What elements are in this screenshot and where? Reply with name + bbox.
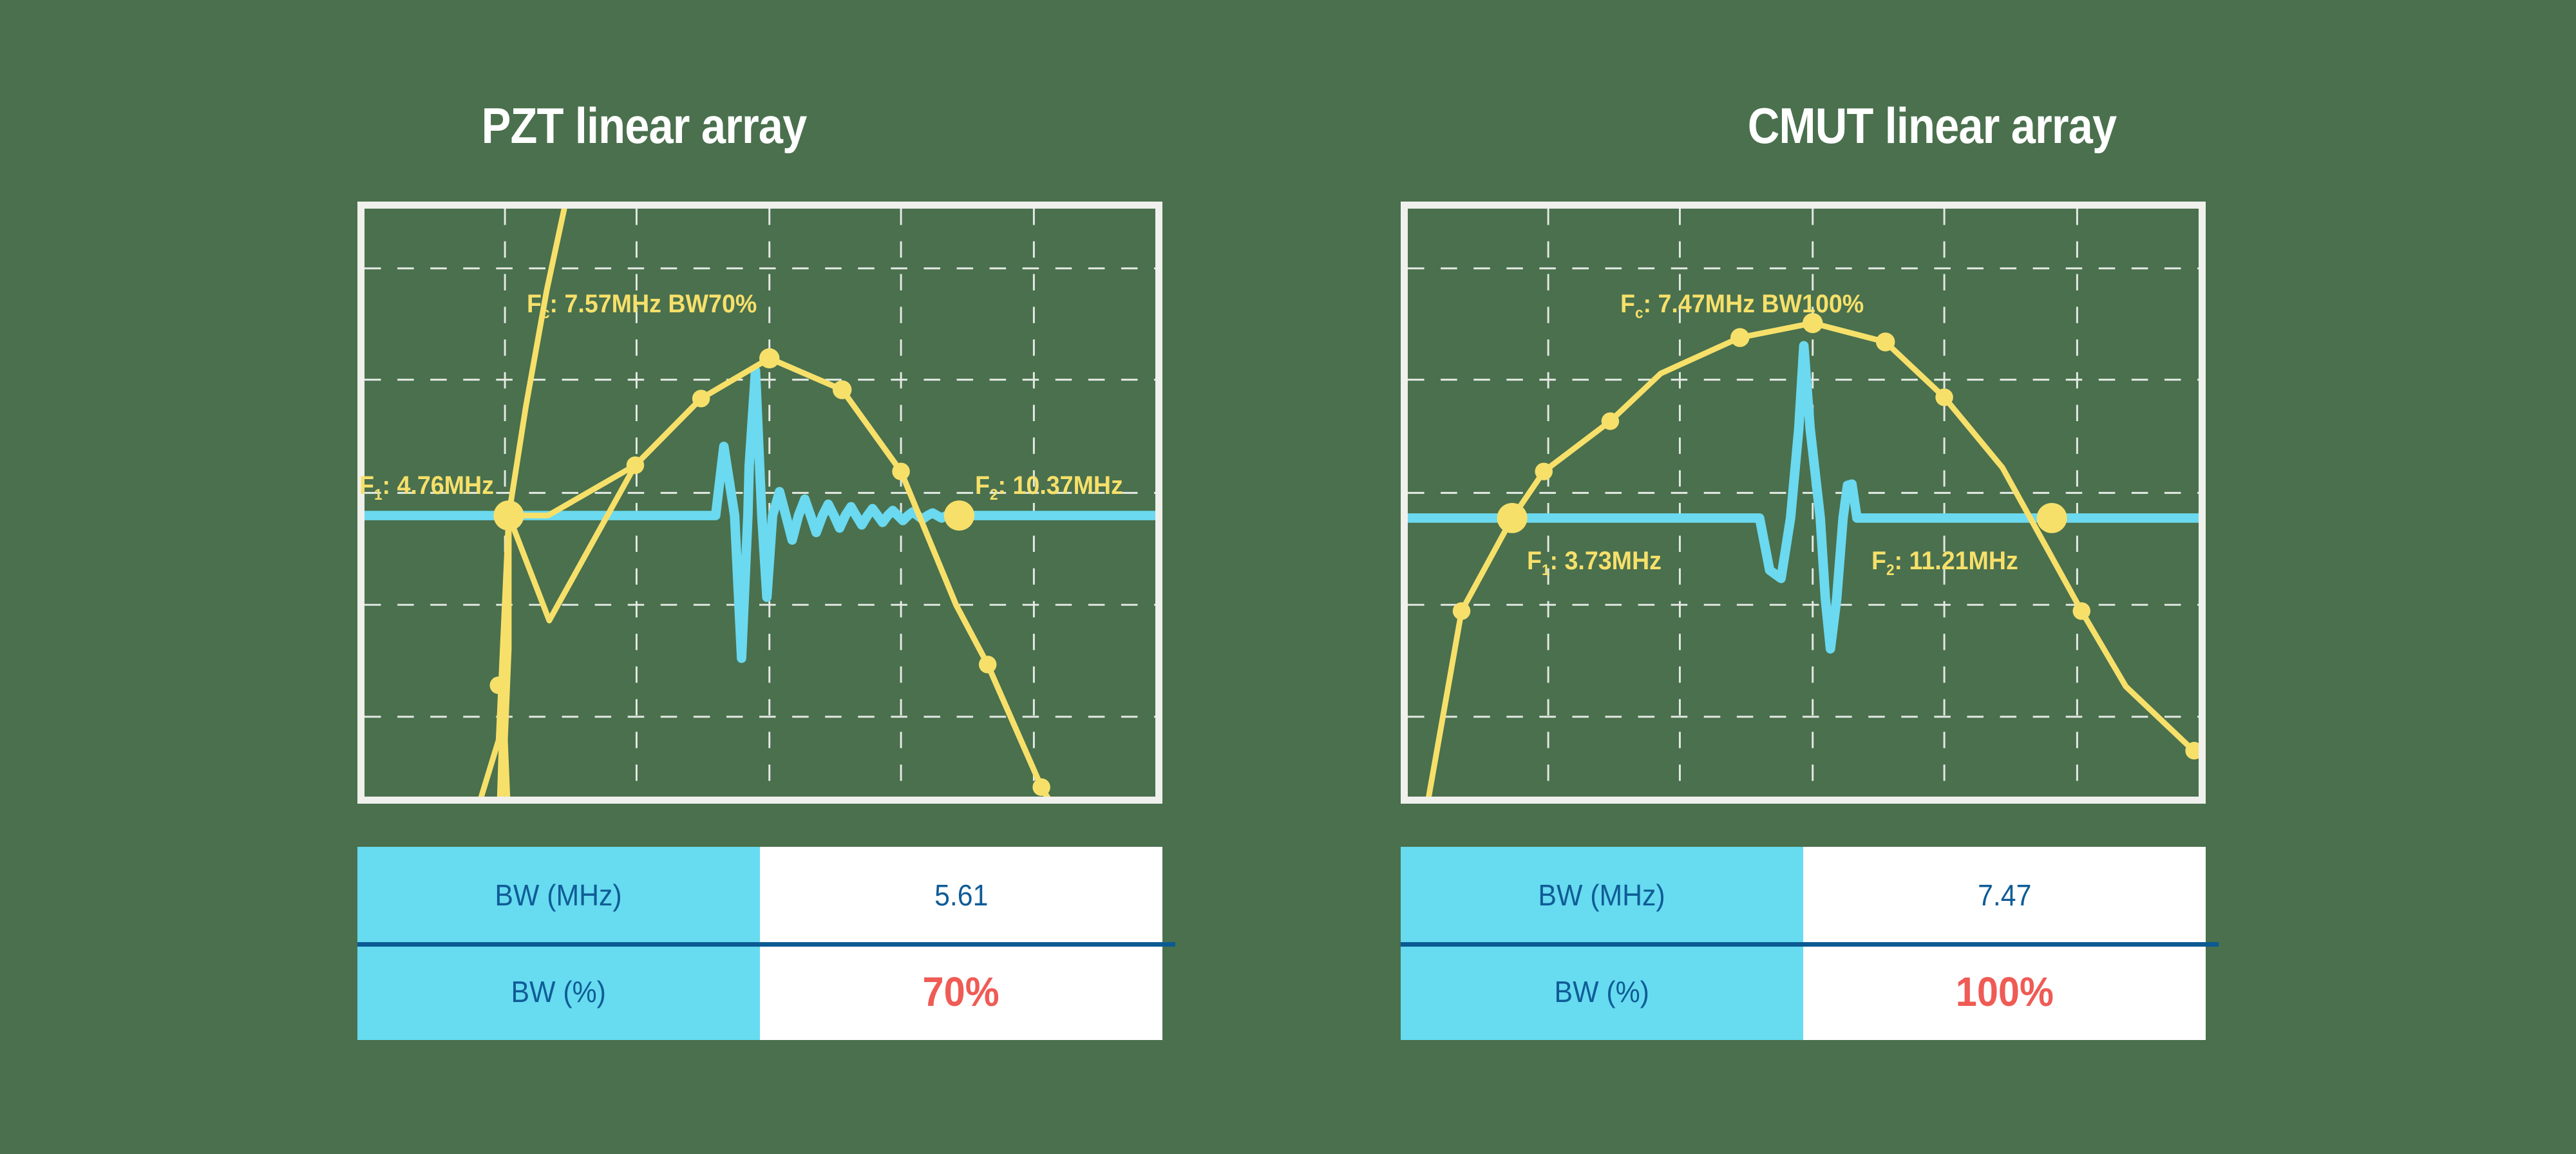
annotation-f1-cmut: F1: 3.73MHz: [1527, 547, 1662, 580]
chart-pzt: Fc: 7.57MHz BW70% F1: 4.76MHz F2: 10.37M…: [357, 202, 1162, 804]
bw-mhz-value-cmut: 7.47: [1803, 847, 2206, 943]
page-title-pzt: PZT linear array: [77, 97, 1211, 155]
fc-prefix-pzt: F: [527, 290, 542, 318]
bw-mhz-label-pzt: BW (MHz): [357, 847, 760, 943]
pulse-waveform-pzt: [365, 371, 1155, 658]
bw-pct-value-cmut: 100%: [1803, 943, 2206, 1040]
f1-text-cmut: : 3.73MHz: [1550, 547, 1662, 575]
f1-sub-pzt: 1: [374, 486, 383, 504]
annotation-f1-pzt: F1: 4.76MHz: [359, 471, 494, 504]
f2-marker-cmut: [2037, 503, 2067, 533]
f1-prefix-pzt: F: [359, 471, 374, 500]
f2-prefix-pzt: F: [975, 471, 990, 500]
fc-prefix-cmut: F: [1620, 290, 1635, 318]
chart-cmut: Fc: 7.47MHz BW100% F1: 3.73MHz F2: 11.21…: [1401, 202, 2206, 804]
f2-sub-cmut: 2: [1886, 562, 1895, 579]
annotation-f2-cmut: F2: 11.21MHz: [1871, 547, 2018, 580]
bw-pct-label-cmut: BW (%): [1401, 943, 1803, 1040]
panel-cmut: CMUT linear array: [1288, 0, 2576, 1154]
bw-pct-label-pzt: BW (%): [357, 943, 760, 1040]
f1-text-pzt: : 4.76MHz: [383, 471, 494, 500]
fc-text-cmut: : 7.47MHz BW100%: [1643, 290, 1864, 318]
fc-sub-pzt: c: [542, 305, 550, 322]
annotation-fc-pzt: Fc: 7.57MHz BW70%: [527, 290, 757, 323]
bw-table-cmut: BW (MHz) 7.47 BW (%) 100%: [1401, 847, 2206, 1040]
table-row: BW (MHz) 7.47: [1401, 847, 2206, 943]
panel-pzt: PZT linear array: [0, 0, 1288, 1154]
f2-text-cmut: : 11.21MHz: [1895, 547, 2018, 575]
f1-marker-cmut: [1497, 503, 1528, 533]
bw-pct-value-pzt: 70%: [760, 943, 1162, 1040]
f1-sub-cmut: 1: [1542, 562, 1550, 579]
table-row: BW (MHz) 5.61: [357, 847, 1162, 943]
table-row: BW (%) 70%: [357, 943, 1162, 1040]
bw-table-pzt: BW (MHz) 5.61 BW (%) 70%: [357, 847, 1162, 1040]
f2-prefix-cmut: F: [1871, 547, 1886, 575]
table-row: BW (%) 100%: [1401, 943, 2206, 1040]
annotation-fc-cmut: Fc: 7.47MHz BW100%: [1620, 290, 1864, 323]
f2-marker-pzt: [944, 500, 974, 531]
f1-marker-pzt: [493, 500, 524, 531]
fc-text-pzt: : 7.57MHz BW70%: [550, 290, 757, 318]
table-divider-cmut: [1401, 942, 2219, 947]
bw-mhz-value-pzt: 5.61: [760, 847, 1162, 943]
table-divider-pzt: [357, 942, 1175, 947]
page-title-cmut: CMUT linear array: [1365, 97, 2499, 155]
fc-sub-cmut: c: [1635, 305, 1643, 322]
f2-text-pzt: : 10.37MHz: [998, 471, 1123, 500]
f1-prefix-cmut: F: [1527, 547, 1542, 575]
f2-sub-pzt: 2: [990, 486, 998, 504]
annotation-f2-pzt: F2: 10.37MHz: [975, 471, 1123, 504]
bw-mhz-label-cmut: BW (MHz): [1401, 847, 1803, 943]
